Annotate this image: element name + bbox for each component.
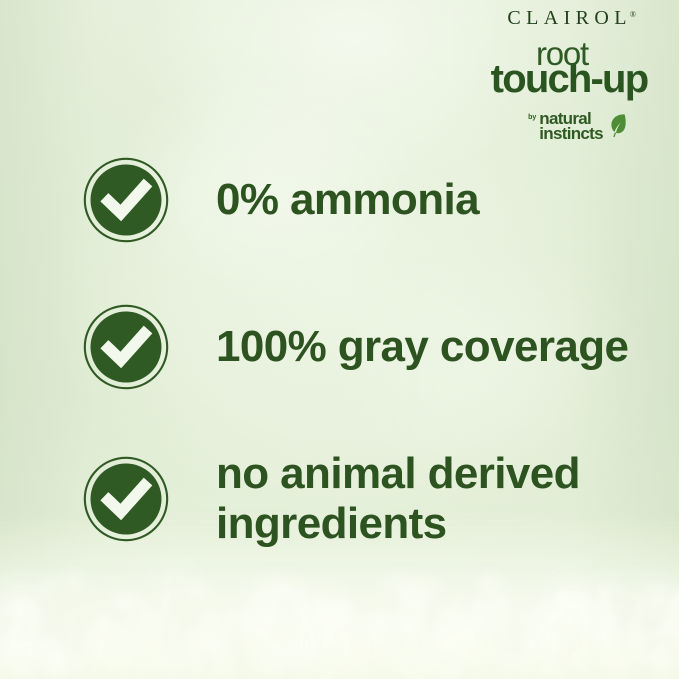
foliage-sprig xyxy=(524,609,563,679)
foliage-sprig xyxy=(356,623,397,679)
foliage-sprig xyxy=(253,583,293,679)
foliage-sprig xyxy=(114,622,142,679)
foliage-sprig xyxy=(494,653,526,679)
foliage-sprig xyxy=(500,628,517,679)
product-feature-banner: CLAIROL® root touch-up by natural instin… xyxy=(0,0,679,679)
foliage-tuft xyxy=(395,566,449,619)
foliage-tuft xyxy=(184,628,232,657)
foliage-sprig xyxy=(460,613,508,679)
foliage-tuft xyxy=(450,582,520,645)
foliage-sprig xyxy=(362,664,384,679)
foliage-tuft xyxy=(130,637,208,679)
foliage-sprig xyxy=(0,657,1,679)
foliage-sprig xyxy=(592,584,626,679)
brand-name: CLAIROL® xyxy=(469,8,669,28)
foliage-sprig xyxy=(0,654,22,679)
foliage-sprig xyxy=(399,597,426,679)
foliage-sprig xyxy=(322,661,342,679)
foliage-tuft xyxy=(224,605,280,645)
foliage-sprig xyxy=(8,628,46,679)
foliage-sprig xyxy=(646,592,679,679)
foliage-sprig xyxy=(58,614,77,679)
foliage-sprig xyxy=(613,618,656,679)
foliage-tuft xyxy=(54,562,92,597)
foliage-sprig xyxy=(594,657,611,679)
foliage-sprig xyxy=(401,658,417,679)
foliage-sprig xyxy=(469,595,498,679)
foliage-tuft xyxy=(654,611,679,643)
foliage-sprig xyxy=(239,630,279,679)
foliage-sprig xyxy=(667,589,679,679)
foliage-sprig xyxy=(385,635,412,679)
foliage-sprig xyxy=(121,612,146,679)
foliage-sprig xyxy=(435,608,446,679)
foliage-sprig xyxy=(623,630,652,679)
foliage-sprig xyxy=(514,630,559,679)
foliage-tuft xyxy=(324,610,358,635)
feature-label: 0% ammonia xyxy=(216,175,479,224)
foliage-tuft xyxy=(210,583,281,643)
foliage-tuft xyxy=(581,604,619,635)
foliage-sprig xyxy=(70,622,100,679)
foliage-sprig xyxy=(265,616,294,679)
foliage-sprig xyxy=(449,627,460,679)
foliage-sprig xyxy=(439,644,469,679)
foliage-sprig xyxy=(424,663,454,679)
foliage-tuft xyxy=(102,586,152,617)
foliage-sprig xyxy=(340,599,361,679)
foliage-tuft xyxy=(266,618,330,679)
foliage-sprig xyxy=(608,629,630,679)
foliage-sprig xyxy=(208,605,238,679)
foliage-sprig xyxy=(566,589,607,679)
foliage-sprig xyxy=(381,658,410,679)
endorsement-lockup: by natural instincts xyxy=(485,111,669,142)
foliage-sprig xyxy=(239,592,264,679)
foliage-sprig xyxy=(165,615,184,679)
foliage-sprig xyxy=(320,630,337,679)
foliage-tuft xyxy=(415,609,487,673)
foliage-sprig xyxy=(650,642,675,679)
foliage-sprig xyxy=(182,629,211,679)
foliage-sprig xyxy=(103,635,135,679)
foliage-tuft xyxy=(350,600,431,648)
foliage-sprig xyxy=(142,588,173,679)
foliage-sprig xyxy=(4,627,21,679)
foliage-sprig xyxy=(528,594,562,679)
foliage-sprig xyxy=(118,642,143,679)
foliage-sprig xyxy=(405,651,431,679)
foliage-sprig xyxy=(620,596,649,679)
foliage-tuft xyxy=(137,544,211,621)
foliage-sprig xyxy=(345,617,378,679)
foliage-sprig xyxy=(188,609,225,679)
foliage-sprig xyxy=(568,666,599,679)
foliage-sprig xyxy=(532,644,556,679)
foliage-tuft xyxy=(537,556,610,632)
foliage-tuft xyxy=(640,627,669,644)
foliage-sprig xyxy=(96,618,124,679)
foliage-sprig xyxy=(272,634,285,679)
feature-label: 100% gray coverage xyxy=(216,322,628,371)
foliage-sprig xyxy=(249,632,279,679)
foliage-sprig xyxy=(223,653,240,679)
foliage-sprig xyxy=(559,623,593,679)
foliage-sprig xyxy=(593,622,628,679)
foliage-sprig xyxy=(453,650,487,679)
foliage-sprig xyxy=(237,590,288,679)
foliage-tuft xyxy=(465,576,545,645)
foliage-tuft xyxy=(304,617,344,650)
foliage-tuft xyxy=(65,660,87,674)
foliage-sprig xyxy=(460,629,484,679)
foliage-sprig xyxy=(366,630,385,679)
foliage-tuft xyxy=(640,644,679,679)
foliage-sprig xyxy=(8,595,33,679)
foliage-sprig xyxy=(394,587,436,679)
foliage-sprig xyxy=(255,646,287,679)
foliage-sprig xyxy=(481,629,508,679)
foliage-sprig xyxy=(436,605,472,679)
foliage-sprig xyxy=(443,593,466,679)
foliage-sprig xyxy=(604,617,619,679)
foliage-sprig xyxy=(0,600,29,679)
foliage-sprig xyxy=(84,629,108,679)
foliage-sprig xyxy=(336,616,353,679)
foliage-sprig xyxy=(577,643,592,679)
foliage-sprig xyxy=(23,599,47,679)
foliage-tuft xyxy=(69,581,99,599)
foliage-sprig xyxy=(538,608,586,679)
foliage-tuft xyxy=(636,646,679,670)
foliage-sprig xyxy=(431,618,450,679)
foliage-sprig xyxy=(319,631,361,679)
foliage-sprig xyxy=(204,613,245,679)
endorsement-brand: natural instincts xyxy=(539,111,603,142)
foliage-sprig xyxy=(552,590,598,679)
foliage-sprig xyxy=(575,589,586,679)
foliage-sprig xyxy=(80,617,118,679)
foliage-sprig xyxy=(288,600,329,679)
foliage-sprig xyxy=(104,651,125,679)
check-circle-icon xyxy=(83,157,169,243)
foliage-sprig xyxy=(433,626,455,679)
foliage-sprig xyxy=(102,626,115,679)
foliage-tuft xyxy=(373,564,428,605)
foliage-sprig xyxy=(438,657,451,679)
foliage-sprig xyxy=(91,611,124,679)
foliage-tuft xyxy=(252,598,289,634)
foliage-sprig xyxy=(412,609,430,679)
foliage-sprig xyxy=(210,632,232,679)
foliage-sprig xyxy=(50,649,68,679)
foliage-sprig xyxy=(258,652,284,679)
foliage-sprig xyxy=(84,636,112,679)
foliage-tuft xyxy=(0,565,60,648)
foliage-sprig xyxy=(276,601,306,679)
registered-trademark-icon: ® xyxy=(630,10,636,19)
foliage-sprig xyxy=(443,647,464,679)
foliage-tuft xyxy=(252,639,288,673)
foliage-tuft xyxy=(7,636,53,664)
foliage-tuft xyxy=(17,663,42,679)
foliage-sprig xyxy=(138,660,159,679)
feature-row: 0% ammonia xyxy=(83,157,479,243)
foliage-sprig xyxy=(550,588,590,679)
foliage-sprig xyxy=(320,607,356,679)
foliage-tuft xyxy=(31,572,68,602)
foliage-tuft xyxy=(431,656,470,679)
foliage-sprig xyxy=(576,592,616,679)
foliage-sprig xyxy=(1,626,30,679)
foliage-sprig xyxy=(213,645,231,679)
foliage-tuft xyxy=(551,588,632,652)
brand-name-text: CLAIROL xyxy=(507,7,631,29)
foliage-tuft xyxy=(85,636,118,662)
foliage-sprig xyxy=(512,639,536,679)
foliage-sprig xyxy=(205,652,225,679)
foliage-sprig xyxy=(543,634,578,679)
brand-lockup: CLAIROL® root touch-up by natural instin… xyxy=(469,8,669,142)
foliage-sprig xyxy=(564,622,603,679)
foliage-sprig xyxy=(132,604,161,679)
foliage-tuft xyxy=(254,618,282,642)
foliage-sprig xyxy=(587,621,611,679)
foliage-sprig xyxy=(357,609,403,679)
foliage-tuft xyxy=(665,613,679,659)
foliage-sprig xyxy=(297,587,312,679)
foliage-sprig xyxy=(289,586,309,679)
foliage-sprig xyxy=(248,663,265,679)
foliage-sprig xyxy=(303,595,328,679)
foliage-sprig xyxy=(649,645,669,679)
foliage-sprig xyxy=(20,623,44,679)
foliage-sprig xyxy=(453,617,484,679)
foliage-sprig xyxy=(144,608,163,679)
foliage-sprig xyxy=(318,601,333,679)
foliage-sprig xyxy=(379,656,409,679)
leaf-icon xyxy=(607,113,626,137)
foliage-tuft xyxy=(553,598,581,619)
foliage-tuft xyxy=(283,573,362,656)
foliage-tuft xyxy=(311,666,337,679)
foliage-sprig xyxy=(316,639,344,679)
foliage-tuft xyxy=(327,599,355,621)
foliage-sprig xyxy=(0,632,2,679)
foliage-sprig xyxy=(473,591,516,679)
foliage-sprig xyxy=(92,613,118,679)
foliage-sprig xyxy=(185,623,217,679)
foliage-sprig xyxy=(534,644,571,679)
foliage-tuft xyxy=(238,564,318,612)
foliage-sprig xyxy=(352,615,368,679)
foliage-sprig xyxy=(99,637,117,679)
foliage-sprig xyxy=(297,605,317,679)
check-circle-icon xyxy=(83,456,169,542)
foliage-sprig xyxy=(337,643,355,679)
foliage-tuft xyxy=(507,592,572,648)
foliage-sprig xyxy=(136,596,167,679)
foliage-sprig xyxy=(168,644,204,679)
foliage-sprig xyxy=(670,603,679,679)
foliage-sprig xyxy=(563,612,591,679)
foliage-sprig xyxy=(609,654,640,679)
foliage-sprig xyxy=(403,652,422,679)
foliage-sprig xyxy=(374,611,402,679)
foliage-tuft xyxy=(0,601,18,624)
foliage-sprig xyxy=(138,632,173,679)
foliage-sprig xyxy=(396,593,426,679)
foliage-sprig xyxy=(8,634,37,679)
foliage-sprig xyxy=(446,608,474,679)
foliage-tuft xyxy=(274,580,300,604)
foliage-tuft xyxy=(549,602,627,646)
foliage-sprig xyxy=(348,654,376,679)
foliage-sprig xyxy=(0,591,18,679)
foliage-tuft xyxy=(301,602,347,639)
feature-row: no animal derived ingredients xyxy=(83,449,580,549)
foliage-sprig xyxy=(37,635,69,679)
foliage-tuft xyxy=(626,569,679,627)
foliage-sprig xyxy=(572,658,593,679)
foliage-sprig xyxy=(393,616,423,679)
foliage-tuft xyxy=(177,579,221,604)
foliage-tuft xyxy=(3,592,43,622)
foliage-sprig xyxy=(565,653,595,679)
foliage-sprig xyxy=(104,653,125,679)
foliage-sprig xyxy=(14,643,28,679)
foliage-sprig xyxy=(189,646,202,679)
foliage-sprig xyxy=(279,629,299,679)
endorsement-by-label: by xyxy=(528,114,536,121)
foliage-tuft xyxy=(0,621,55,678)
foliage-sprig xyxy=(611,654,631,679)
foliage-sprig xyxy=(110,611,139,679)
foliage-tuft xyxy=(594,571,628,604)
foliage-sprig xyxy=(400,617,421,679)
endorsement-line-instincts: instincts xyxy=(539,126,603,142)
feature-label: no animal derived ingredients xyxy=(216,449,580,549)
foliage-sprig xyxy=(60,647,93,679)
foliage-tuft xyxy=(199,635,231,667)
feature-row: 100% gray coverage xyxy=(83,304,628,390)
foliage-sprig xyxy=(317,645,334,679)
foliage-sprig xyxy=(556,649,589,679)
foliage-tuft xyxy=(469,566,509,604)
foliage-tuft xyxy=(610,581,639,605)
foliage-tuft xyxy=(295,633,329,663)
foliage-sprig xyxy=(10,607,45,679)
product-line-touch-up: touch-up xyxy=(469,62,669,97)
foliage-sprig xyxy=(409,594,428,679)
foliage-sprig xyxy=(547,586,591,679)
foliage-sprig xyxy=(318,598,354,679)
foliage-sprig xyxy=(541,647,573,679)
foliage-sprig xyxy=(298,628,321,679)
foliage-sprig xyxy=(129,635,154,679)
foliage-tuft xyxy=(508,614,587,664)
foliage-sprig xyxy=(242,625,275,679)
foliage-sprig xyxy=(420,638,441,679)
foliage-sprig xyxy=(424,645,456,679)
foliage-sprig xyxy=(463,615,494,679)
foliage-tuft xyxy=(21,631,87,679)
foliage-sprig xyxy=(244,611,265,679)
check-circle-icon xyxy=(83,304,169,390)
foliage-sprig xyxy=(410,659,442,679)
